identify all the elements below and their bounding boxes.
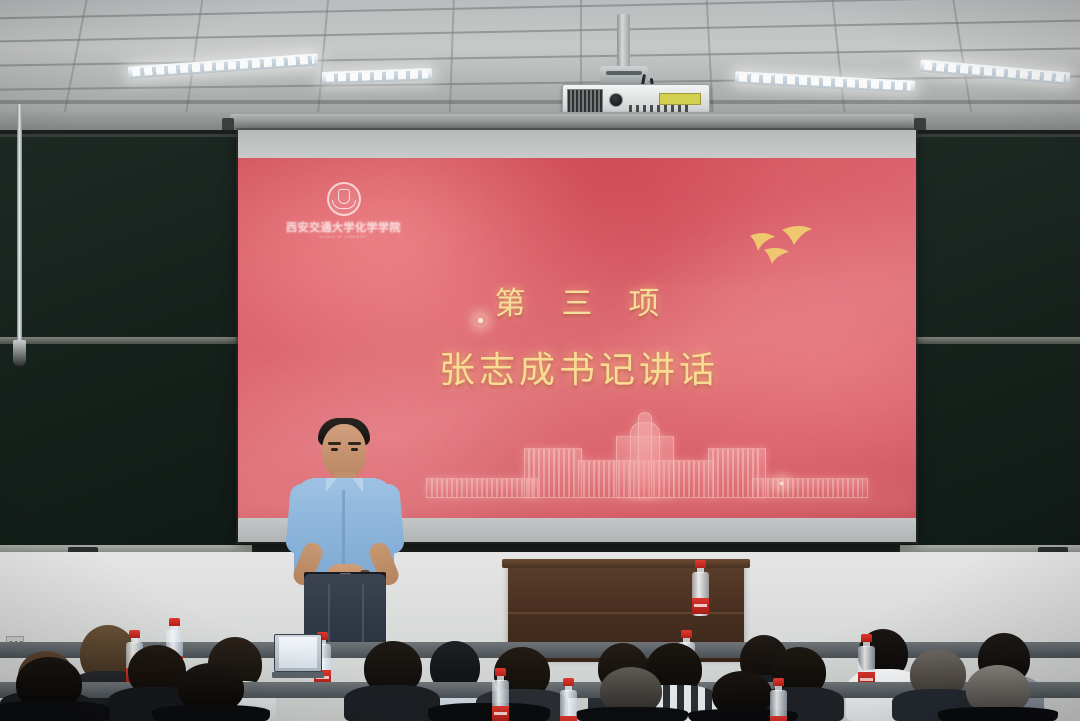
slide-title-sub: 张志成书记讲话 — [238, 341, 916, 393]
doves-graphic — [720, 220, 830, 272]
audience-torso — [344, 685, 440, 721]
logo-subtext: SCHOOL OF CHEMISTRY — [319, 235, 367, 239]
projector-label — [659, 93, 701, 105]
list-item — [152, 663, 270, 721]
seated-audience: NEVER STOP EXPLORING — [0, 556, 1080, 721]
open-laptop[interactable] — [272, 634, 324, 678]
presenter-head — [322, 424, 366, 478]
slide-title-main: 第 三 项 — [238, 278, 916, 323]
list-item — [0, 657, 110, 721]
audience-torso — [0, 701, 110, 721]
chalkboard-left-divider — [0, 337, 250, 344]
chemistry-flask-book-emblem-icon — [327, 182, 361, 216]
audience-torso — [152, 705, 270, 721]
screen-roller — [230, 114, 914, 130]
dove-icon — [720, 220, 830, 272]
audience-torso — [428, 703, 550, 721]
screen-top-margin — [238, 130, 916, 158]
slide-title-block: 第 三 项 张志成书记讲话 — [238, 278, 916, 393]
list-item — [428, 659, 550, 721]
logo-wordmark: 西安交通大学化学学院 — [286, 219, 401, 235]
presenter-collar-left — [326, 478, 337, 492]
audience-torso — [576, 707, 688, 721]
projector-lens — [609, 93, 623, 107]
screen-pull-rod-tip[interactable] — [13, 340, 26, 366]
list-item — [576, 667, 688, 721]
presenter-collar-right — [352, 478, 363, 492]
lecture-hall-photo: 西安交通大学化学学院 SCHOOL OF CHEMISTRY 第 三 项 张 — [0, 0, 1080, 721]
projector-mount-pole — [617, 14, 630, 72]
audience-torso — [938, 707, 1058, 721]
list-item — [344, 641, 440, 721]
screen-pull-rod[interactable] — [17, 104, 22, 344]
ceiling — [0, 0, 1080, 118]
chalkboard-right-divider — [902, 337, 1080, 344]
projector-vent — [567, 89, 603, 114]
list-item — [938, 665, 1058, 721]
school-logo: 西安交通大学化学学院 SCHOOL OF CHEMISTRY — [286, 182, 401, 239]
